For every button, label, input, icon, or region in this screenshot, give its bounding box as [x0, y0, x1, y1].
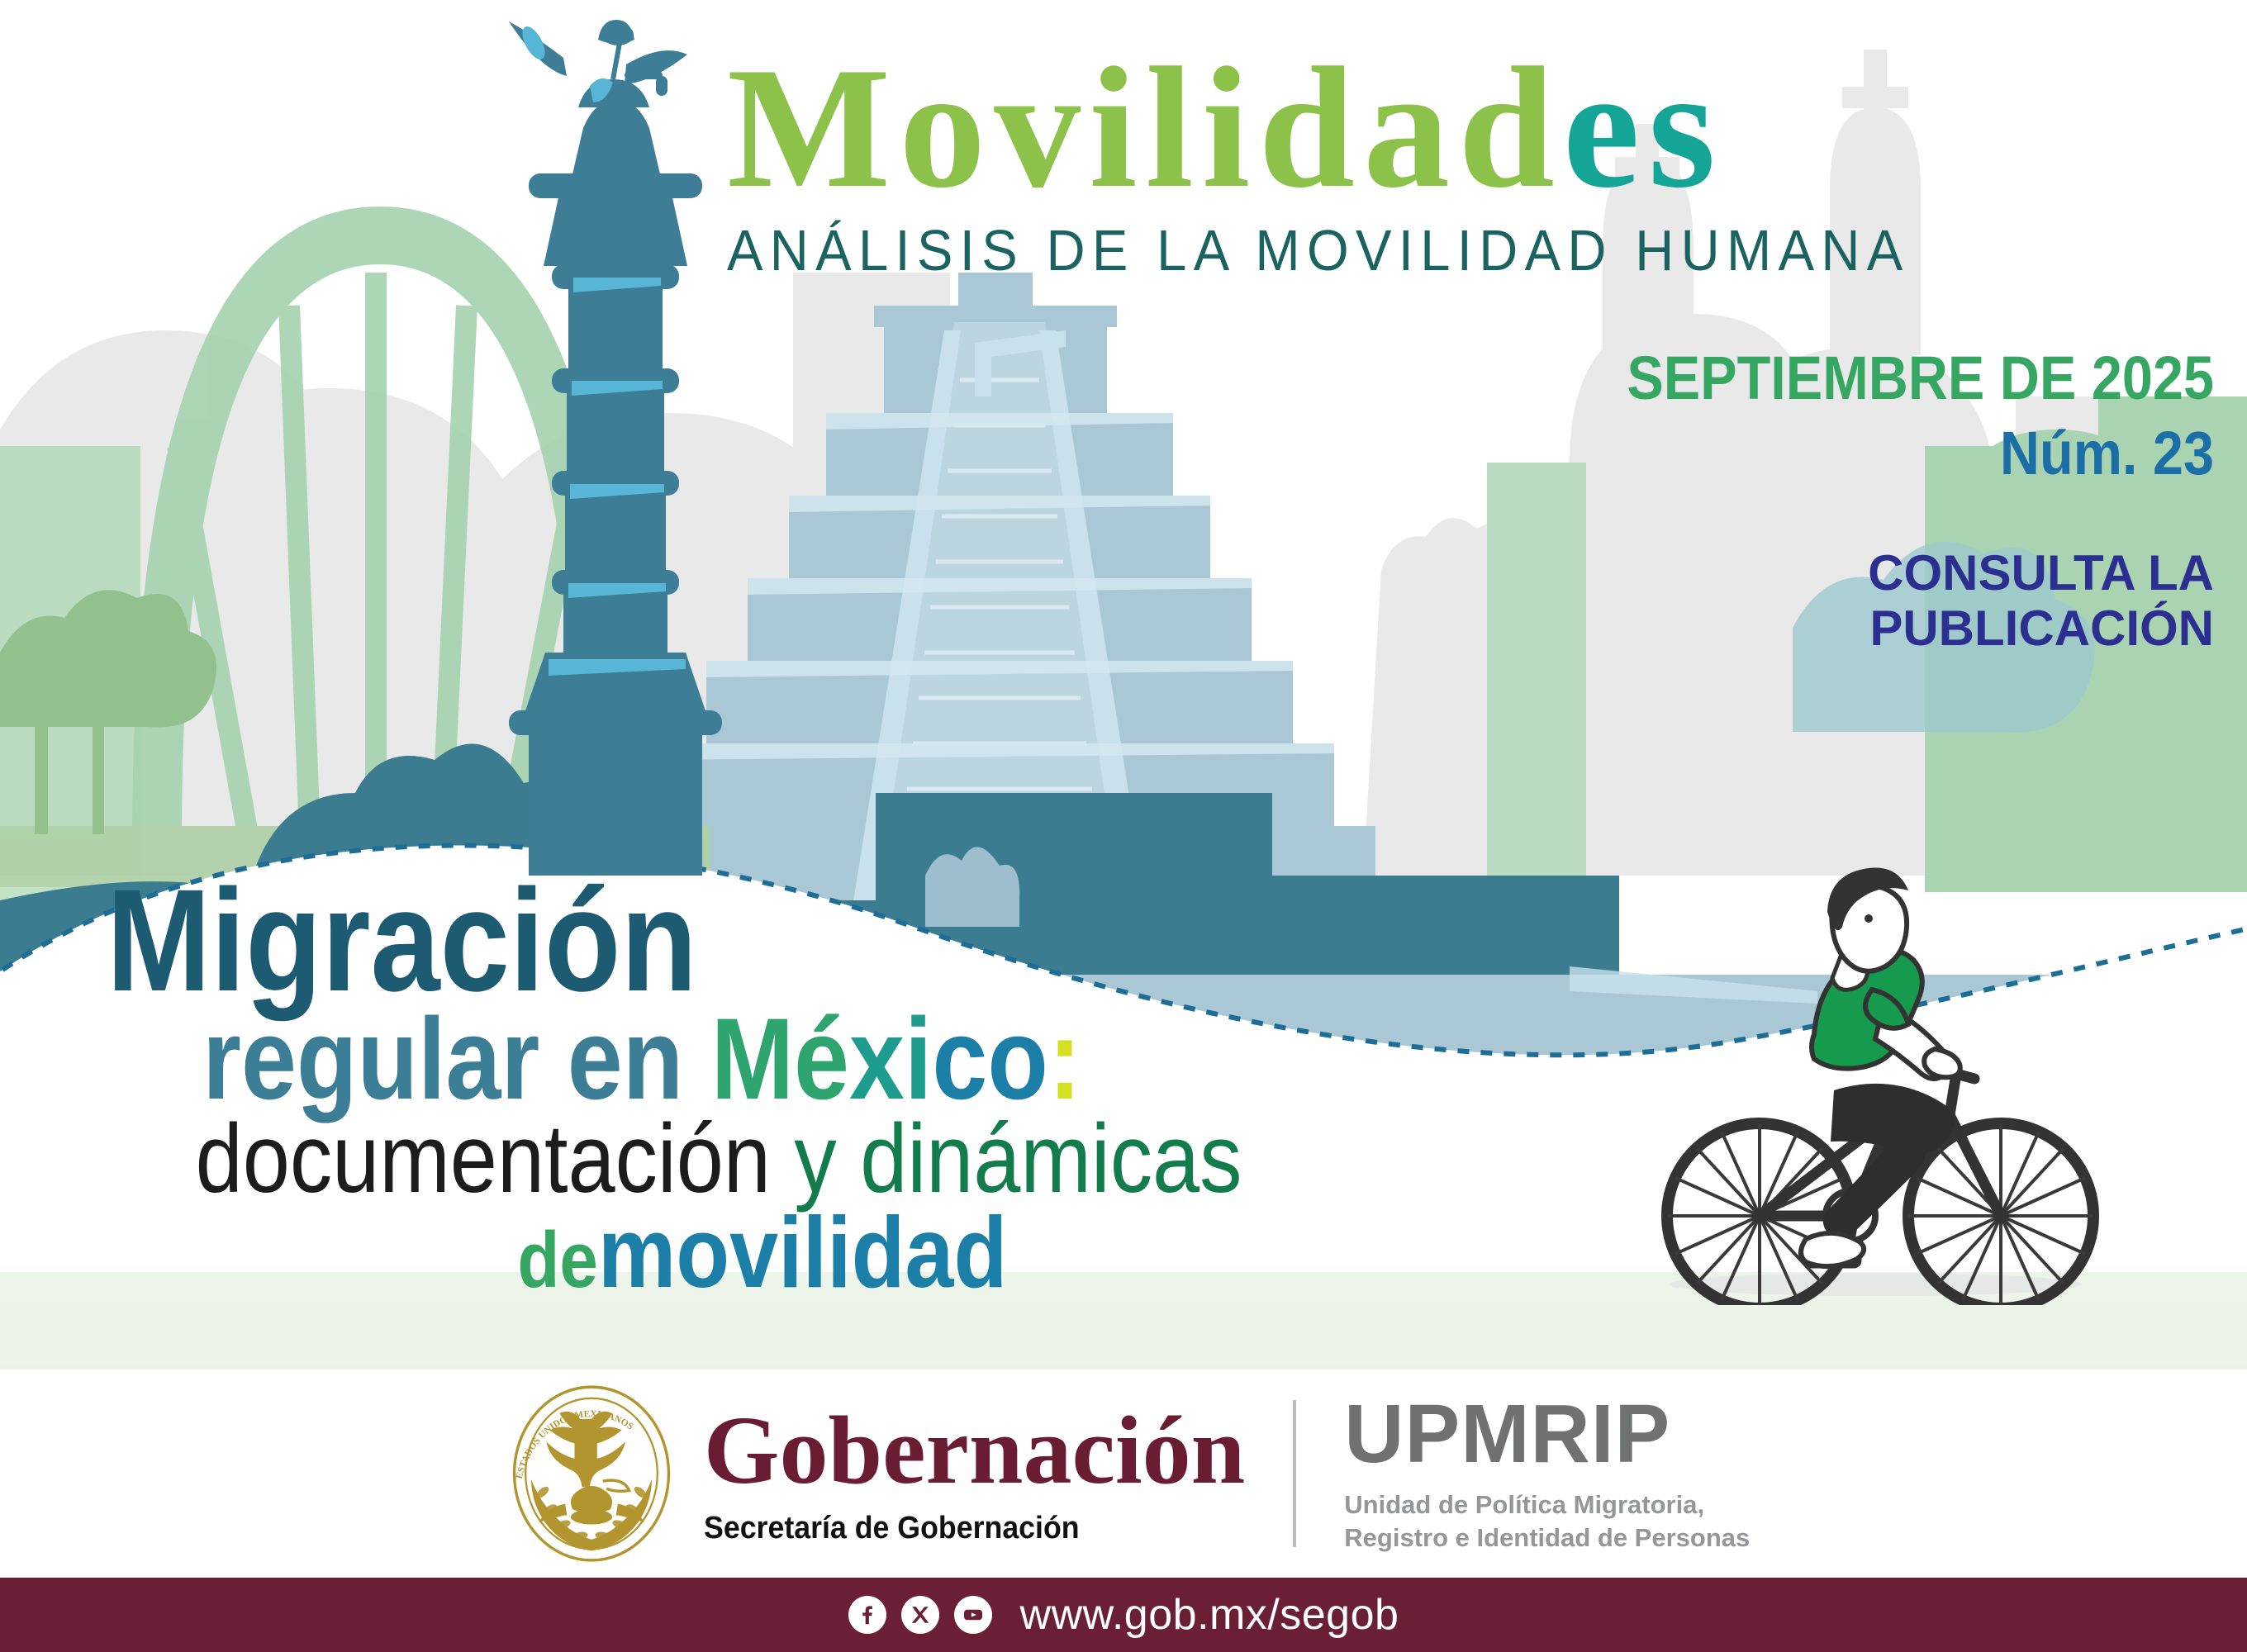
headline-de: de — [517, 1216, 597, 1304]
bottom-url-bar: www.gob.mx/segob — [0, 1578, 2247, 1652]
gobernacion-subtitle: Secretaría de Gobernación — [704, 1511, 1213, 1546]
youtube-icon[interactable] — [954, 1596, 992, 1634]
issue-number: Núm. 23 — [876, 418, 2214, 488]
mexico-national-seal-icon: ESTADOS UNIDOS MEXICANOS — [497, 1379, 686, 1568]
footer-logo-band: ESTADOS UNIDOS MEXICANOS Gobernación Sec… — [0, 1370, 2247, 1578]
logo-divider — [1293, 1400, 1296, 1547]
upmrip-subtitle: Unidad de Política Migratoria, Registro … — [1344, 1488, 1750, 1554]
headline-movilidad: movilidad — [598, 1196, 1007, 1308]
cover-headline: Migración regular en México: documentaci… — [0, 876, 1421, 1301]
x-twitter-icon[interactable] — [901, 1596, 939, 1634]
cyclist-illustration — [1644, 843, 2107, 1305]
upmrip-subtitle-line-2: Registro e Identidad de Personas — [1344, 1521, 1750, 1555]
issue-date: SEPTIEMBRE DE 2025 — [876, 343, 2214, 413]
consult-publication-link[interactable]: CONSULTA LA PUBLICACIÓN — [1388, 545, 2214, 656]
title-segment-a: Movilidad — [727, 32, 1563, 224]
title-segment-b: es — [1563, 32, 1724, 224]
cta-line-1: CONSULTA LA — [1388, 545, 2214, 601]
publication-title: Movilidades — [727, 45, 2214, 212]
gobernacion-logo: ESTADOS UNIDOS MEXICANOS Gobernación Sec… — [497, 1379, 1246, 1568]
facebook-icon[interactable] — [848, 1596, 886, 1634]
masthead: Movilidades ANÁLISIS DE LA MOVILIDAD HUM… — [727, 45, 2214, 283]
publication-cover: Movilidades ANÁLISIS DE LA MOVILIDAD HUM… — [0, 0, 2247, 1652]
upmrip-logo: UPMRIP Unidad de Política Migratoria, Re… — [1344, 1393, 1750, 1554]
upmrip-title: UPMRIP — [1344, 1393, 1750, 1475]
website-url[interactable]: www.gob.mx/segob — [1020, 1590, 1399, 1640]
gobernacion-title: Gobernación — [704, 1402, 1246, 1499]
issue-meta: SEPTIEMBRE DE 2025 Núm. 23 — [727, 343, 2214, 488]
cta-line-2: PUBLICACIÓN — [1388, 601, 2214, 656]
headline-line-3: documentación y dinámicas — [0, 1113, 1236, 1205]
upmrip-subtitle-line-1: Unidad de Política Migratoria, — [1344, 1488, 1750, 1521]
headline-line-2: regular en México: — [0, 1006, 1222, 1113]
headline-line-1: Migración — [0, 876, 1222, 1006]
headline-line-4: demovilidad — [0, 1205, 1236, 1301]
publication-subtitle: ANÁLISIS DE LA MOVILIDAD HUMANA — [727, 217, 2110, 283]
